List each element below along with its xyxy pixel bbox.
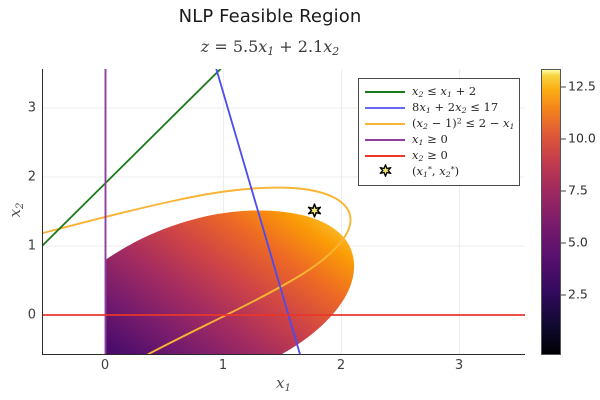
legend: x2 ≤ x1 + 2 8x1 + 2x2 ≤ 17 (x2 − 1)2 ≤ 2…: [358, 78, 520, 186]
legend-item-x1-nonneg[interactable]: x1 ≥ 0: [365, 132, 513, 148]
legend-item-green[interactable]: x2 ≤ x1 + 2: [365, 84, 513, 100]
colorbar: [541, 69, 561, 355]
legend-swatch-orange: [365, 123, 405, 125]
colorbar-tick-2-5: 2.5: [561, 287, 588, 302]
legend-item-parabola[interactable]: (x2 − 1)2 ≤ 2 − x1: [365, 116, 513, 132]
xtick-3: 3: [455, 358, 463, 373]
ytick-3: 3: [10, 101, 36, 116]
feasible-region-shading: [98, 199, 363, 355]
legend-label-parabola: (x2 − 1)2 ≤ 2 − x1: [412, 116, 514, 131]
legend-swatch-red: [365, 155, 405, 157]
colorbar-tick-12-5: 12.5: [561, 79, 596, 94]
colorbar-tick-7-5: 7.5: [561, 183, 588, 198]
legend-label-x1-nonneg: x1 ≥ 0: [412, 132, 448, 147]
ytick-1: 1: [10, 239, 36, 254]
legend-label-optimum: (x1*, x2*): [412, 164, 459, 179]
legend-swatch-purple: [365, 139, 405, 141]
xtick-2: 2: [337, 358, 345, 373]
xtick-0: 0: [101, 358, 109, 373]
colorbar-ticks: 12.5 10.0 7.5 5.0 2.5: [561, 69, 600, 355]
legend-label-x2-nonneg: x2 ≥ 0: [412, 148, 448, 163]
xtick-1: 1: [219, 358, 227, 373]
legend-label-blue: 8x1 + 2x2 ≤ 17: [412, 100, 498, 115]
legend-swatch-green: [365, 91, 405, 93]
legend-label-green: x2 ≤ x1 + 2: [412, 84, 476, 99]
chart-title: NLP Feasible Region: [0, 6, 540, 27]
ytick-0: 0: [10, 308, 36, 323]
legend-item-blue[interactable]: 8x1 + 2x2 ≤ 17: [365, 100, 513, 116]
y-axis-label: x2: [6, 180, 26, 240]
x-axis-label: x1: [42, 374, 525, 394]
legend-item-x2-nonneg[interactable]: x2 ≥ 0: [365, 148, 513, 164]
colorbar-tick-5-0: 5.0: [561, 235, 588, 250]
colorbar-tick-10-0: 10.0: [561, 131, 596, 146]
legend-item-optimum[interactable]: (x1*, x2*): [365, 164, 513, 180]
optimum-marker[interactable]: [309, 204, 321, 217]
chart-subtitle: z = 5.5x1 + 2.1x2: [0, 37, 540, 58]
star-icon: [365, 164, 405, 180]
chart-figure: NLP Feasible Region z = 5.5x1 + 2.1x2: [0, 0, 600, 400]
legend-swatch-blue: [365, 107, 405, 109]
